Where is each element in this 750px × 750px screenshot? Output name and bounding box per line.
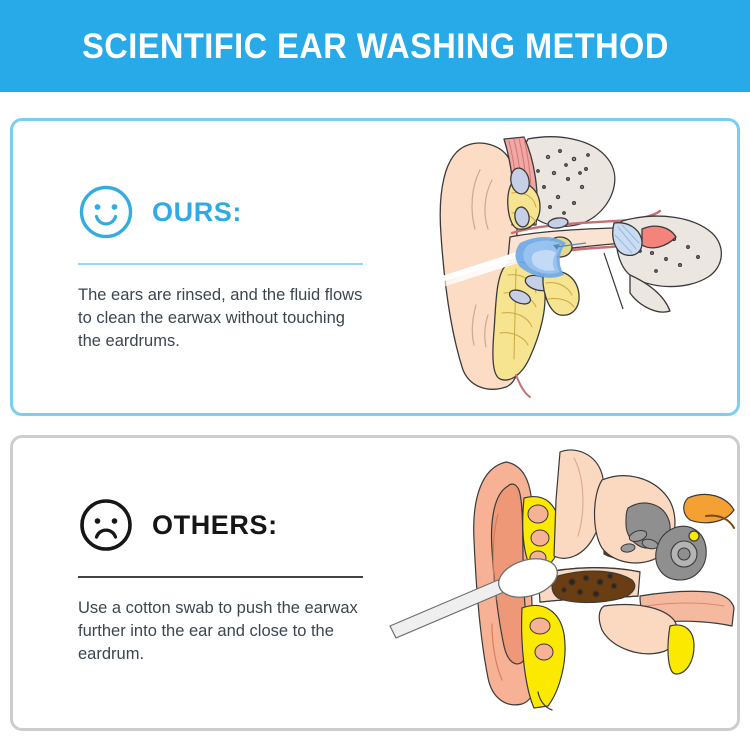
others-body-text: Use a cotton swab to push the earwax fur… xyxy=(78,597,368,666)
ours-heading-row: OURS: xyxy=(78,183,378,241)
page-title: SCIENTIFIC EAR WASHING METHOD xyxy=(82,29,669,64)
ear-anatomy-cotton-swab-illustration xyxy=(388,440,736,712)
others-heading-label: OTHERS: xyxy=(152,512,278,539)
sad-face-icon xyxy=(78,497,134,553)
others-text-column: OTHERS: Use a cotton swab to push the ea… xyxy=(78,496,378,666)
page-header-banner: SCIENTIFIC EAR WASHING METHOD xyxy=(0,0,750,92)
others-divider xyxy=(78,576,363,578)
others-heading-row: OTHERS: xyxy=(78,496,378,554)
ours-body-text: The ears are rinsed, and the fluid flows… xyxy=(78,284,368,353)
smiley-face-icon xyxy=(78,184,134,240)
ear-anatomy-water-irrigation-illustration xyxy=(408,125,738,400)
ours-text-column: OURS: The ears are rinsed, and the fluid… xyxy=(78,183,378,353)
ours-divider xyxy=(78,263,363,265)
ours-heading-label: OURS: xyxy=(152,199,242,226)
card-ours: OURS: The ears are rinsed, and the fluid… xyxy=(10,118,740,416)
card-others: OTHERS: Use a cotton swab to push the ea… xyxy=(10,435,740,731)
